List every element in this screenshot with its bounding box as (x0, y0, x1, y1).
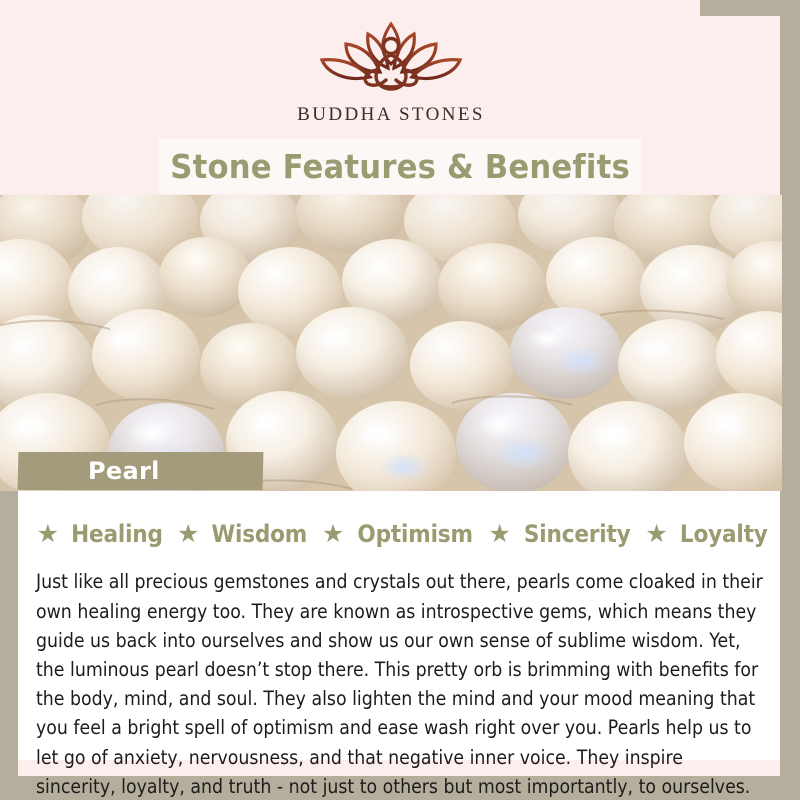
lotus-meditation-logo-icon (306, 14, 476, 102)
description-text: Just like all precious gemstones and cry… (36, 567, 766, 800)
keyword-label: Wisdom (212, 520, 308, 548)
title-banner: Stone Features & Benefits (160, 140, 640, 193)
keyword-list: ★ Healing ★ Wisdom ★ Optimism ★ Sincerit… (18, 518, 782, 550)
brand-logo: BUDDHA STONES (0, 14, 782, 138)
stone-name: Pearl (88, 457, 160, 485)
star-icon: ★ (37, 522, 59, 547)
keyword-label: Sincerity (524, 520, 631, 548)
pearl-photo-illustration (0, 195, 782, 491)
star-icon: ★ (488, 522, 510, 547)
brand-name: BUDDHA STONES (297, 104, 485, 126)
keyword-item-2: ★ Optimism (313, 520, 480, 548)
keyword-item-3: ★ Sincerity (479, 520, 636, 548)
keyword-label: Loyalty (680, 520, 768, 548)
star-icon: ★ (177, 522, 199, 547)
keyword-label: Healing (71, 520, 163, 548)
stone-name-banner: Pearl (18, 452, 264, 490)
keyword-item-0: ★ Healing (28, 520, 168, 548)
keyword-item-1: ★ Wisdom (168, 520, 313, 548)
star-icon: ★ (645, 522, 667, 547)
frame-strip-right (780, 0, 800, 800)
poster-root: BUDDHA STONES Stone Features & Benefits (0, 0, 800, 800)
stone-photo (0, 195, 782, 491)
keyword-label: Optimism (358, 520, 473, 548)
page-title: Stone Features & Benefits (170, 147, 630, 186)
star-icon: ★ (322, 522, 344, 547)
frame-strip-left (0, 490, 18, 780)
keyword-item-4: ★ Loyalty (636, 520, 772, 548)
